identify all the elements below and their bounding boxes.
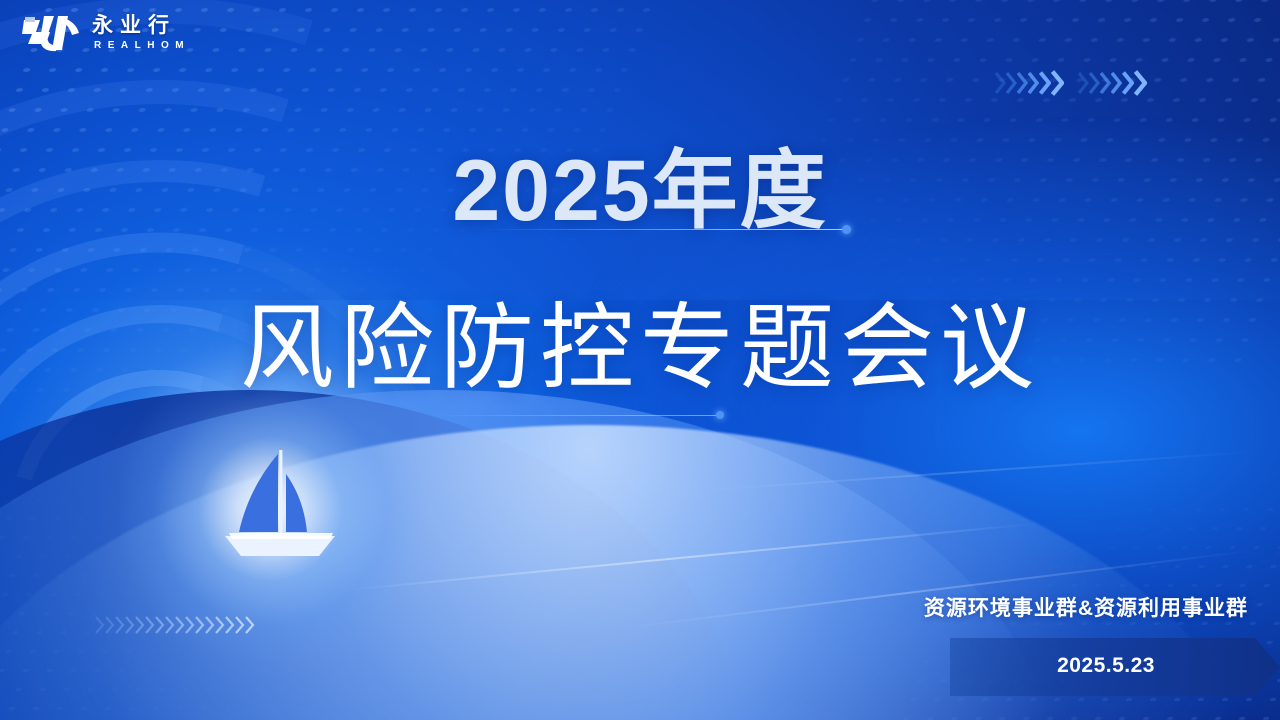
logo-text-block: 永业行 REALHOM	[92, 14, 190, 51]
title-line-1: 2025年度	[0, 120, 1280, 245]
chevron-right-icon	[1134, 70, 1147, 96]
chevron-right-icon	[1111, 72, 1122, 94]
chevron-right-icon	[135, 616, 145, 634]
chevron-right-icon	[215, 616, 225, 634]
organization-label: 资源环境事业群&资源利用事业群	[924, 592, 1248, 622]
sailboat-icon	[215, 440, 345, 570]
chevron-right-icon	[205, 616, 215, 634]
chevron-right-icon	[1100, 72, 1111, 94]
title-underline-1	[486, 229, 846, 230]
chevron-right-icon	[245, 616, 255, 634]
chevron-right-icon	[995, 72, 1006, 94]
chevron-group-bottom-left	[95, 616, 255, 634]
chevron-right-icon	[145, 616, 155, 634]
title-underline-2	[430, 415, 722, 416]
chevron-right-icon	[1006, 72, 1017, 94]
chevron-right-icon	[195, 616, 205, 634]
chevron-right-icon	[1051, 70, 1064, 96]
chevron-right-icon	[125, 616, 135, 634]
chevron-right-icon	[235, 616, 245, 634]
chevron-right-icon	[115, 616, 125, 634]
title-line-2: 风险防控专题会议	[0, 272, 1280, 408]
chevron-right-icon	[1028, 72, 1039, 94]
chevron-right-icon	[105, 616, 115, 634]
logo-company-en: REALHOM	[94, 41, 190, 51]
title-underline-dot-1	[842, 225, 851, 234]
date-label: 2025.5.23	[1057, 654, 1155, 678]
chevron-right-icon	[1078, 72, 1089, 94]
title-underline-dot-2	[716, 411, 724, 419]
company-logo: 永业行 REALHOM	[20, 12, 190, 52]
chevron-group-top-right	[995, 70, 1147, 96]
chevron-right-icon	[1089, 72, 1100, 94]
chevron-right-icon	[165, 616, 175, 634]
chevron-right-icon	[155, 616, 165, 634]
chevron-right-icon	[225, 616, 235, 634]
chevron-right-icon	[175, 616, 185, 634]
chevron-right-icon	[185, 616, 195, 634]
chevron-right-icon	[95, 616, 105, 634]
chevron-right-icon	[1017, 72, 1028, 94]
yh-monogram-icon	[20, 12, 82, 52]
chevron-right-icon	[1039, 71, 1051, 95]
presentation-slide: 永业行 REALHOM 2025年度 风险防控专题会议 资源环境事业群&资源利用…	[0, 0, 1280, 720]
logo-company-cn: 永业行	[92, 14, 190, 35]
chevron-right-icon	[1122, 71, 1134, 95]
